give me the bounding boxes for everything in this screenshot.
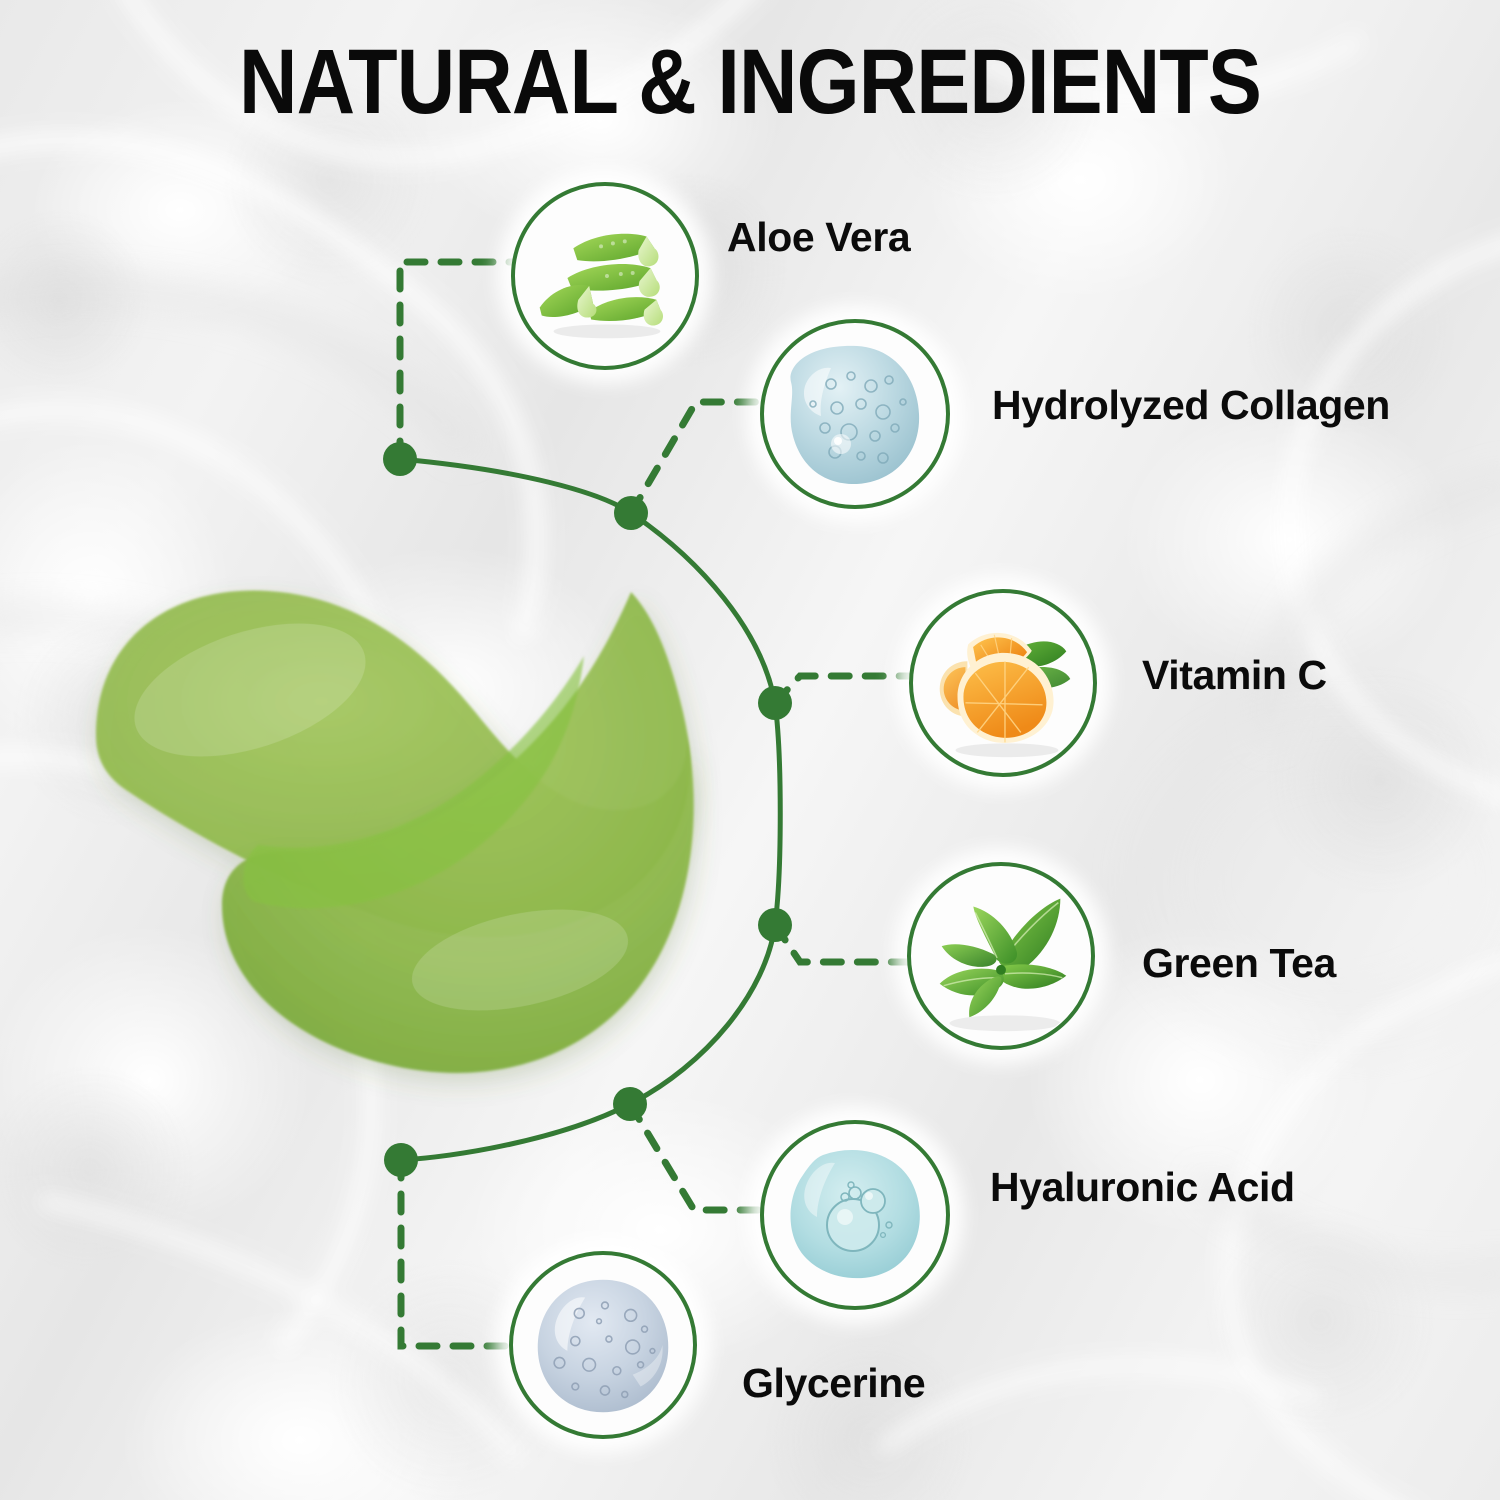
- branch-aloe: [400, 262, 513, 459]
- ingredient-circle-hydrolyzed-collagen[interactable]: [760, 319, 950, 509]
- infographic-canvas: NATURAL & INGREDIENTS: [0, 0, 1500, 1500]
- node-hyaluronic-dot: [613, 1087, 647, 1121]
- branch-hyaluronic: [630, 1104, 760, 1210]
- node-green-tea-dot: [758, 908, 792, 942]
- circle-ring: [907, 862, 1095, 1050]
- node-vitamin-c-dot: [758, 686, 792, 720]
- circle-ring: [909, 589, 1097, 777]
- node-glycerine-dot: [384, 1143, 418, 1177]
- ingredient-circle-vitamin-c[interactable]: [909, 589, 1097, 777]
- ingredient-circle-aloe-vera[interactable]: [511, 182, 699, 370]
- ingredient-label-hyaluronic-acid: Hyaluronic Acid: [990, 1164, 1295, 1211]
- ingredient-circle-glycerine[interactable]: [509, 1251, 697, 1439]
- ingredient-label-aloe-vera: Aloe Vera: [727, 214, 910, 261]
- circle-ring: [760, 1120, 950, 1310]
- connector-nodes: [383, 442, 792, 1177]
- circle-ring: [509, 1251, 697, 1439]
- ingredient-label-vitamin-c: Vitamin C: [1142, 652, 1327, 699]
- circle-ring: [760, 319, 950, 509]
- branch-collagen: [631, 402, 760, 513]
- ingredient-circle-hyaluronic-acid[interactable]: [760, 1120, 950, 1310]
- ingredient-label-glycerine: Glycerine: [742, 1360, 925, 1407]
- node-aloe-dot: [383, 442, 417, 476]
- node-collagen-dot: [614, 496, 648, 530]
- branch-green-tea: [775, 925, 907, 962]
- ingredient-label-green-tea: Green Tea: [1142, 940, 1336, 987]
- ingredient-label-hydrolyzed-collagen: Hydrolyzed Collagen: [992, 382, 1390, 429]
- ingredient-circle-green-tea[interactable]: [907, 862, 1095, 1050]
- circle-ring: [511, 182, 699, 370]
- spine-arc: [400, 459, 780, 1160]
- branch-glycerine: [401, 1160, 509, 1346]
- branch-vitamin-c: [775, 676, 909, 703]
